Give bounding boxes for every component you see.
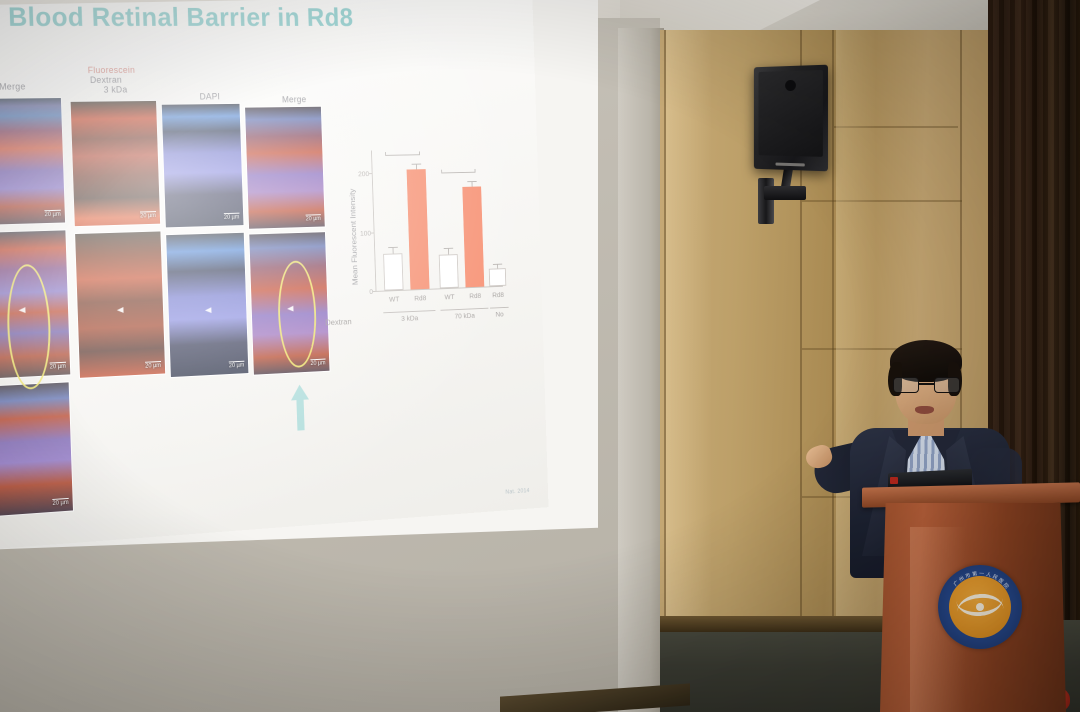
significance-bracket [385, 154, 420, 156]
panel-column-header: Fluorescein [88, 65, 136, 75]
white-arrow-marker [204, 307, 211, 313]
retina-section [0, 230, 70, 379]
micrograph-panel: 20 µm [0, 381, 74, 518]
glasses-icon [892, 377, 962, 393]
podium: 广 州 市 第 一 人 民 医 院 [870, 485, 1080, 712]
glasses-lens-right [934, 377, 960, 393]
laptop-indicator [890, 477, 898, 484]
chart-group-label: 3 kDa [383, 313, 435, 324]
chart-y-tick-label: 200 [353, 169, 369, 178]
micrograph-panel: 20 µm [0, 229, 71, 380]
speaker-bracket [764, 186, 806, 200]
micrograph-panel: 20 µm [161, 103, 245, 228]
scale-bar: 20 µm [224, 212, 240, 221]
speaker-brand-logo [776, 163, 805, 167]
chart-y-tick [369, 173, 373, 174]
slide-title: eaky Blood Retinal Barrier in Rd8 [0, 2, 379, 33]
scale-bar: 20 µm [140, 211, 156, 220]
up-arrow-annotation [291, 384, 310, 431]
micrograph-panel: 20 µm [244, 106, 326, 230]
retina-section [71, 101, 161, 226]
retina-section [249, 232, 329, 375]
chart-bar [462, 186, 484, 287]
chart-y-tick-label: 100 [355, 229, 371, 238]
panel-column-header: Merge [0, 82, 26, 92]
speaker-cabinet [754, 65, 828, 172]
chart-x-tick-label: Rd8 [405, 293, 435, 303]
scale-bar: 20 µm [229, 360, 245, 369]
chart-y-tick [371, 233, 375, 234]
podium-front-panel: 广 州 市 第 一 人 民 医 院 [880, 503, 1066, 712]
panel-column-header: 3 kDa [104, 85, 128, 95]
speaker-mount-post [758, 178, 774, 224]
micrograph-panel: 20 µm [0, 97, 66, 226]
scale-bar: 20 µm [145, 361, 161, 370]
presenter-mouth [915, 406, 934, 414]
chart-bar [439, 254, 459, 288]
chart-group-label: No [488, 310, 510, 319]
chart-group-rule [490, 307, 509, 309]
micrograph-panel: 20 µm [165, 232, 249, 378]
scale-bar: 20 µm [306, 214, 321, 223]
chart-x-tick-labels: WT Rd8 WT Rd8 Rd8 [376, 290, 503, 295]
university-emblem: 广 州 市 第 一 人 民 医 院 [938, 565, 1022, 649]
slide-title-main: Blood Retinal Barrier in Rd8 [0, 2, 354, 32]
bar-chart: Mean Fluorescent Intensity Dextran 0 100… [348, 135, 527, 341]
scale-bar: 20 µm [50, 361, 67, 370]
presentation-slide: eaky Blood Retinal Barrier in Rd8 Merge … [0, 0, 549, 549]
retina-section [75, 231, 165, 377]
micrograph-panel: 20 µm [70, 100, 161, 227]
presentation-room-scene: eaky Blood Retinal Barrier in Rd8 Merge … [0, 0, 1080, 712]
white-arrow-marker [19, 307, 26, 313]
micrograph-panel: 20 µm [74, 230, 166, 378]
panel-column-header: Dextran [90, 75, 122, 85]
glasses-bridge [919, 383, 934, 385]
significance-bracket [441, 172, 475, 174]
chart-plot-area: 0 100 200 [371, 148, 503, 292]
white-arrow-marker [117, 307, 124, 313]
chart-x-axis-label: Dextran [325, 317, 352, 328]
chart-bar [407, 169, 430, 289]
emblem-ring-text: 广 州 市 第 一 人 民 医 院 [938, 565, 1022, 649]
chart-bar [489, 268, 506, 286]
scale-bar: 20 µm [52, 497, 69, 507]
scale-bar: 20 µm [44, 209, 61, 218]
projection-screen: eaky Blood Retinal Barrier in Rd8 Merge … [0, 0, 598, 550]
wall-pillar [618, 28, 664, 712]
glasses-lens-left [893, 377, 919, 393]
chart-y-tick [373, 291, 377, 292]
scale-bar: 20 µm [310, 358, 325, 367]
micrograph-panel: 20 µm [248, 231, 330, 375]
wood-highlight [666, 30, 712, 712]
retina-section [0, 98, 65, 225]
retina-section [245, 107, 325, 229]
retina-section [166, 233, 248, 377]
chart-y-axis [371, 150, 376, 291]
retina-section [162, 104, 244, 228]
chart-bar [383, 253, 403, 290]
panel-column-header: DAPI [199, 92, 220, 102]
panel-column-header: Merge [282, 95, 307, 105]
chart-x-tick-label: Rd8 [484, 290, 511, 299]
slide-citation: Nat. 2014 [505, 488, 529, 495]
chart-y-axis-label: Mean Fluorescent Intensity [346, 143, 359, 285]
wall-mounted-loudspeaker [752, 66, 832, 236]
chart-group-labels: 3 kDa 70 kDa No [376, 307, 503, 313]
white-arrow-marker [287, 306, 293, 312]
retina-section [0, 382, 73, 517]
chart-y-tick-label: 0 [357, 287, 373, 296]
chart-group-label: 70 kDa [441, 311, 489, 322]
